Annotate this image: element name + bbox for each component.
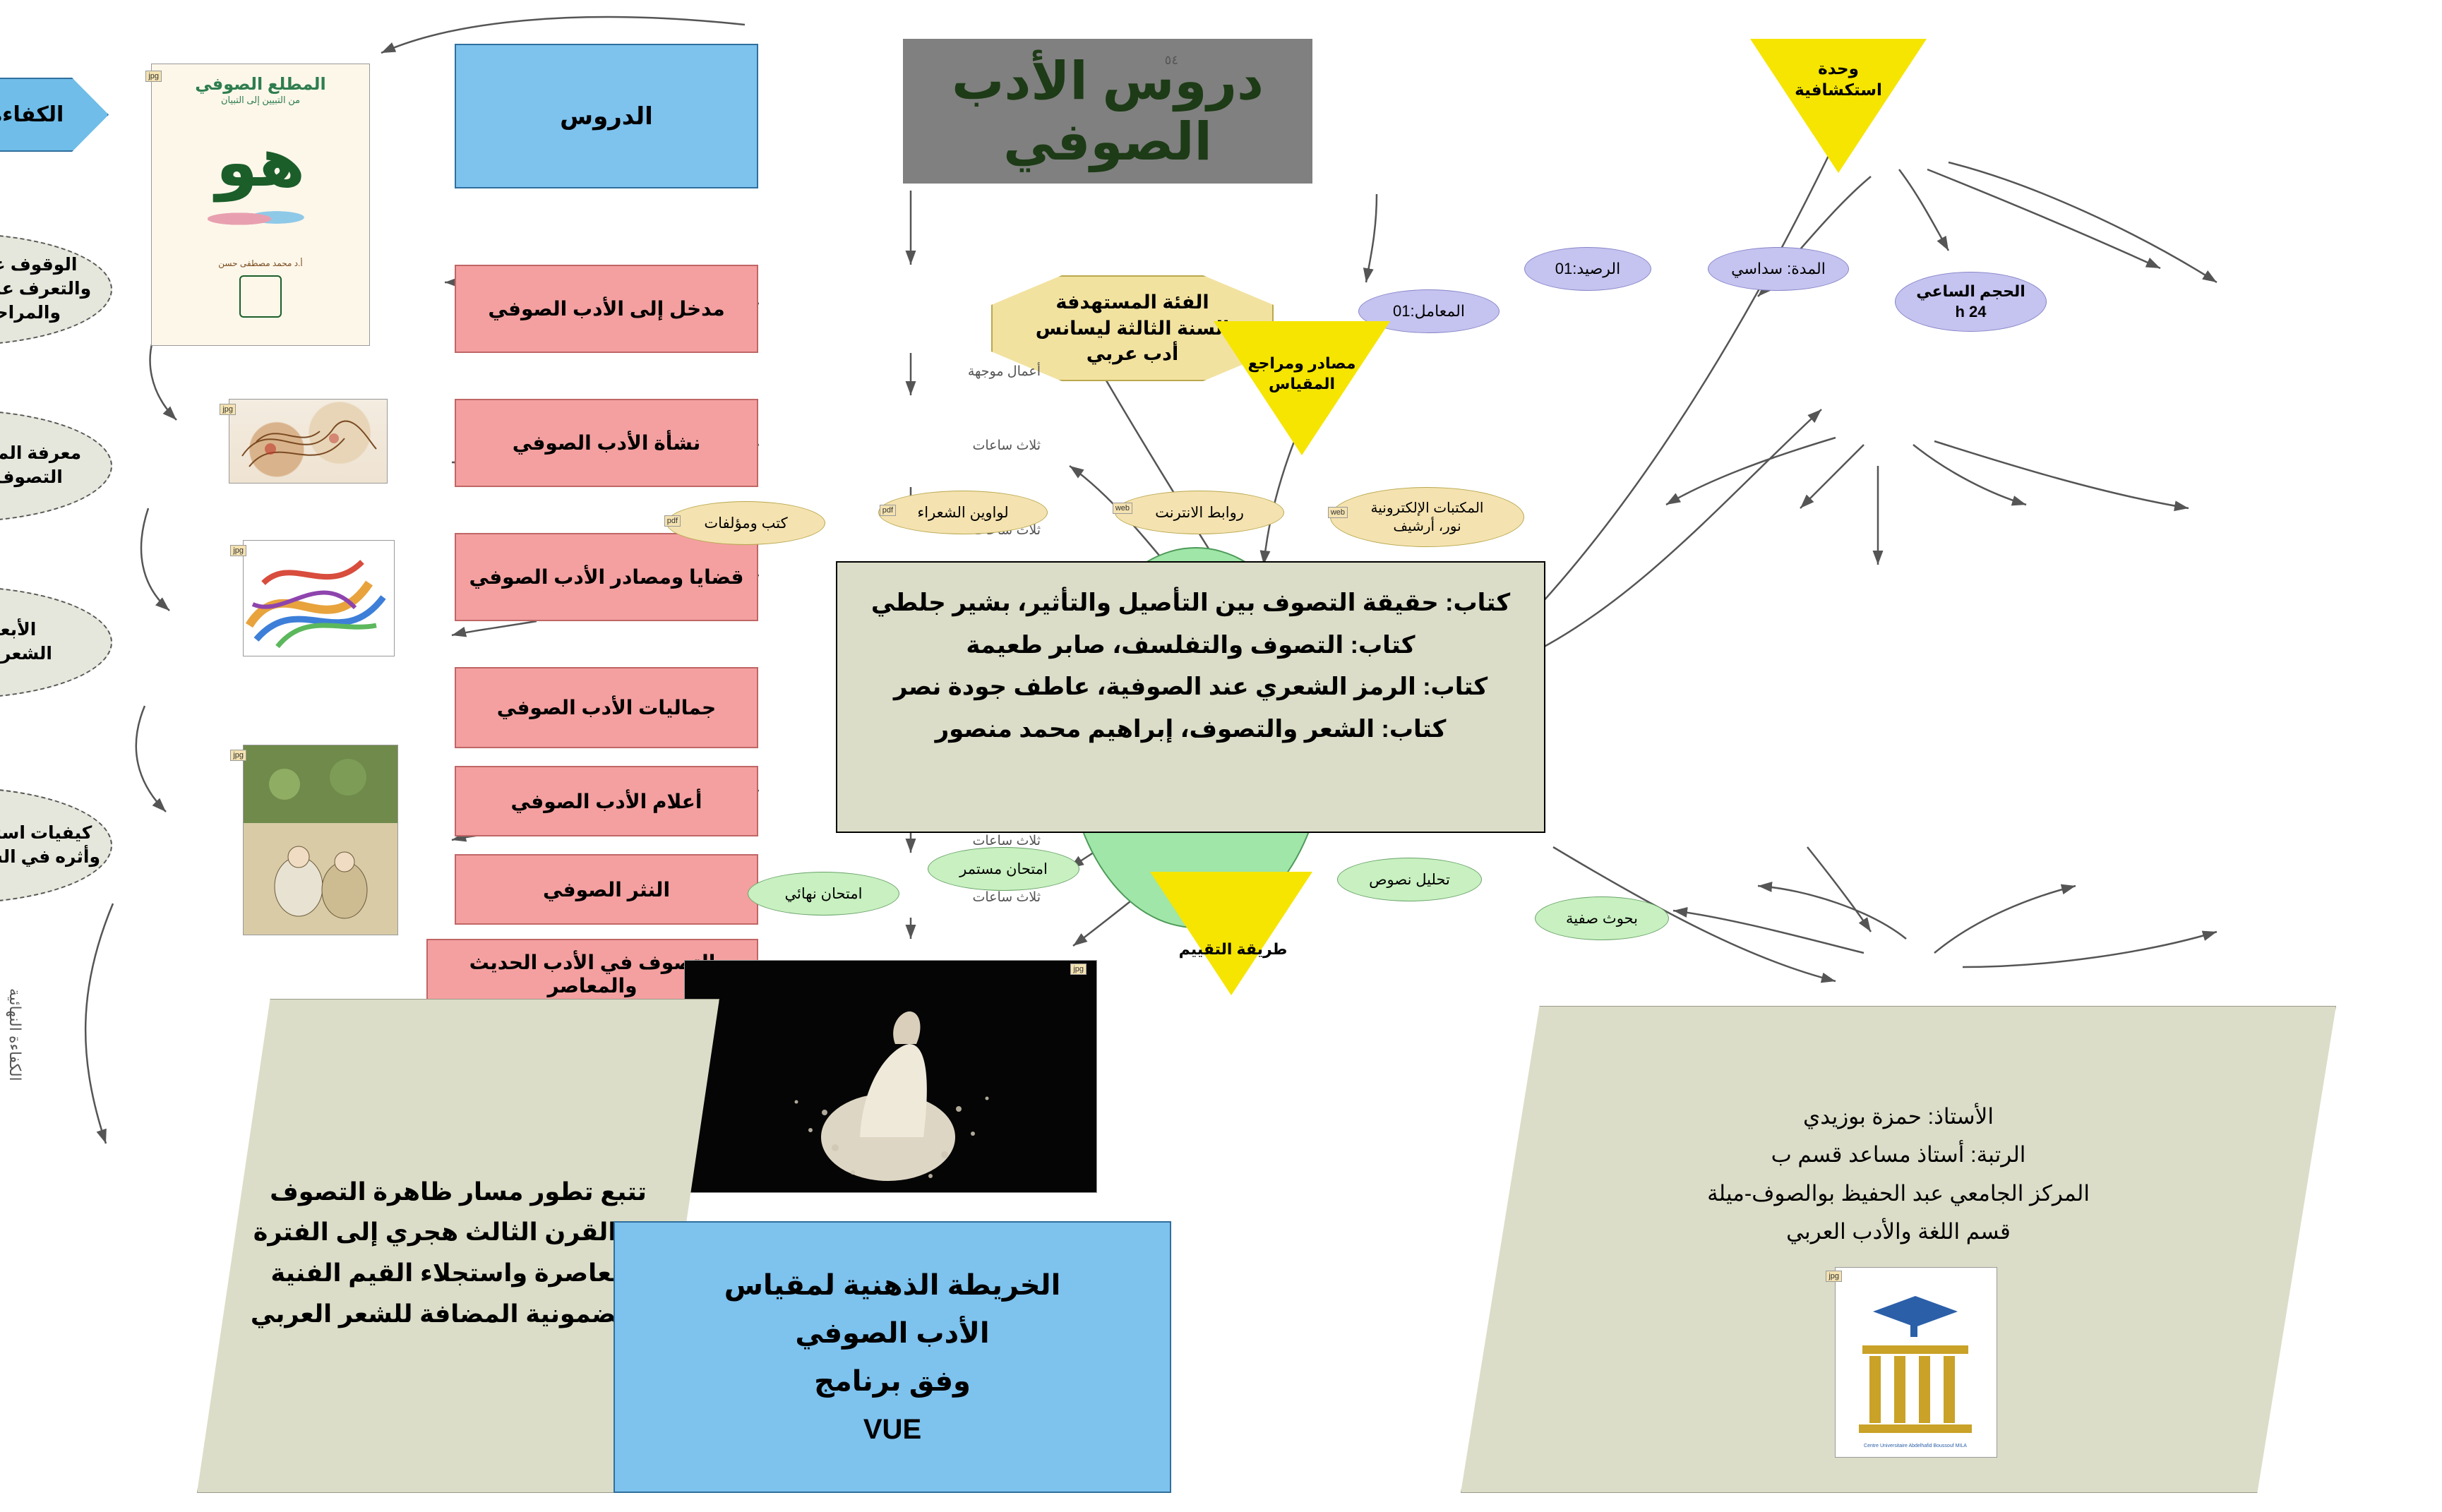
teacher-line-1: الأستاذ: حمزة بوزيدي bbox=[1552, 1098, 2244, 1136]
source-type-text: كتب ومؤلفات bbox=[704, 515, 787, 532]
competence-text: معرفة المؤثرات الرئيسية في التصوف، والقض… bbox=[0, 442, 81, 490]
source-type-4: المكتبات الإلكترونية نور، أرشيف bbox=[1330, 487, 1524, 547]
evaluation-item-text: امتحان مستمر bbox=[959, 860, 1048, 878]
lesson-label: قضايا ومصادر الأدب الصوفي bbox=[469, 565, 744, 589]
lesson-box-3: قضايا ومصادر الأدب الصوفي bbox=[455, 533, 758, 621]
lesson-label: مدخل إلى الأدب الصوفي bbox=[488, 297, 724, 320]
teacher-line-2: الرتبة: أستاذ مساعد قسم ب bbox=[1552, 1136, 2244, 1174]
book-cover-author: أ.د محمد مصطفى حسن bbox=[152, 258, 369, 268]
evaluation-item-3: امتحان نهائي bbox=[748, 872, 899, 916]
unit-credit: الرصيد:01 bbox=[1524, 247, 1651, 291]
sources-triangle-label: مصادر ومراجع المقياس bbox=[1221, 346, 1383, 402]
books-box: كتاب: حقيقة التصوف بين التأصيل والتأثير،… bbox=[836, 561, 1545, 833]
hour-label-1: ثلاث ساعات bbox=[972, 438, 1041, 454]
hour-label-7: ثلاث ساعات bbox=[972, 889, 1041, 906]
svg-text:Centre Universitaire Abdelhafi: Centre Universitaire Abdelhafid Boussouf… bbox=[1864, 1444, 1967, 1448]
map-title-text: دروس الأدب الصوفي bbox=[903, 51, 1312, 172]
source-tag-4: web bbox=[1328, 507, 1348, 518]
target-group-text: الفئة المستهدفة السنة الثالثة ليسانس أدب… bbox=[1036, 289, 1229, 366]
source-type-3: روابط الانترنت bbox=[1115, 491, 1284, 534]
source-tag-2: pdf bbox=[880, 505, 896, 516]
unit-duration: المدة: سداسي bbox=[1708, 247, 1849, 291]
competence-text: الأبعاد الرمزية للغة الشعرية عند المتصوف… bbox=[0, 618, 52, 666]
evaluation-item-text: تحليل نصوص bbox=[1369, 871, 1450, 889]
art1-image-tag: jpg bbox=[220, 404, 236, 415]
map-title: دروس الأدب الصوفي bbox=[903, 39, 1312, 184]
hour-label-0: أعمال موجهة bbox=[968, 364, 1041, 380]
final-competence-label: الكفاءة النهائية bbox=[6, 988, 24, 1081]
lesson-label: النثر الصوفي bbox=[543, 878, 670, 901]
source-type-2: لواوين الشعراء bbox=[878, 491, 1048, 534]
lesson-box-2: نشأة الأدب الصوفي bbox=[455, 399, 758, 487]
source-tag-1: pdf bbox=[664, 515, 681, 527]
source-type-1: كتب ومؤلفات bbox=[666, 501, 825, 545]
evaluation-triangle-text: طريقة التقييم bbox=[1179, 940, 1288, 959]
evaluation-item-text: بحوث صفية bbox=[1566, 910, 1638, 928]
final-competence-text: تتبع تطور مسار ظاهرة التصوف منذ القرن ال… bbox=[251, 1172, 666, 1335]
dervish-image-tag: jpg bbox=[1070, 964, 1087, 975]
unit-hours-text: الحجم الساعي 24 h bbox=[1916, 282, 2025, 322]
evaluation-item-4: بحوث صفية bbox=[1535, 896, 1669, 940]
unit-hours: الحجم الساعي 24 h bbox=[1895, 272, 2047, 332]
lesson-label: أعلام الأدب الصوفي bbox=[511, 790, 702, 813]
lesson-box-1: مدخل إلى الأدب الصوفي bbox=[455, 265, 758, 353]
source-type-text: لواوين الشعراء bbox=[917, 504, 1008, 522]
teacher-text-wrap: الأستاذ: حمزة بوزيدي الرتبة: أستاذ مساعد… bbox=[1552, 1098, 2244, 1253]
book-item-4: كتاب: الشعر والتصوف، إبراهيم محمد منصور bbox=[858, 709, 1523, 751]
university-logo-image: Centre Universitaire Abdelhafid Boussouf… bbox=[1835, 1267, 1997, 1458]
lesson-label: جماليات الأدب الصوفي bbox=[497, 696, 717, 719]
lesson-label: نشأة الأدب الصوفي bbox=[513, 431, 700, 455]
lesson-box-6: النثر الصوفي bbox=[455, 854, 758, 925]
unit-triangle-text: وحدة استكشافية bbox=[1795, 59, 1882, 101]
art2-image-tag: jpg bbox=[230, 545, 246, 556]
target-competence-text: الكفاءة المستهدفة bbox=[0, 102, 64, 127]
competence-1: الوقوف على دلالات التصوف والتعرف على الإ… bbox=[0, 233, 112, 346]
competence-4: كيفيات استدعاء التراث الصوفي وأثره في ال… bbox=[0, 787, 112, 904]
teacher-panel: الأستاذ: حمزة بوزيدي الرتبة: أستاذ مساعد… bbox=[1461, 1006, 2336, 1493]
final-competence-text-wrap: تتبع تطور مسار ظاهرة التصوف منذ القرن ال… bbox=[246, 1168, 670, 1338]
unit-coefficient-text: المعامل:01 bbox=[1393, 302, 1465, 320]
book-cover-image: المطلع الصوفي من التبيين إلى التبيان هو … bbox=[151, 64, 370, 346]
unit-triangle-label: وحدة استكشافية bbox=[1757, 55, 1920, 104]
miniature-image-tag: jpg bbox=[230, 750, 246, 761]
competence-2: معرفة المؤثرات الرئيسية في التصوف، والقض… bbox=[0, 409, 112, 522]
competence-text: كيفيات استدعاء التراث الصوفي وأثره في ال… bbox=[0, 822, 100, 870]
book-image-tag: jpg bbox=[145, 71, 162, 82]
mindmap-note-box: الخريطة الذهنية لمقياس الأدب الصوفي وفق … bbox=[614, 1221, 1171, 1493]
target-competence: الكفاءة المستهدفة bbox=[0, 78, 109, 152]
book-item-3: كتاب: الرمز الشعري عند الصوفية، عاطف جود… bbox=[858, 666, 1523, 709]
lesson-box-4: جماليات الأدب الصوفي bbox=[455, 667, 758, 748]
evaluation-item-1: تحليل نصوص bbox=[1337, 858, 1482, 901]
competence-3: الأبعاد الرمزية للغة الشعرية عند المتصوف… bbox=[0, 586, 112, 699]
source-type-text: روابط الانترنت bbox=[1155, 504, 1244, 522]
logo-image-tag: jpg bbox=[1826, 1271, 1842, 1282]
lessons-header-text: الدروس bbox=[560, 102, 653, 131]
book-item-1: كتاب: حقيقة التصوف بين التأصيل والتأثير،… bbox=[858, 582, 1523, 625]
lessons-header: الدروس bbox=[455, 44, 758, 188]
art-image-2 bbox=[243, 540, 395, 656]
dervish-image bbox=[684, 960, 1097, 1193]
competence-text: الوقوف على دلالات التصوف والتعرف على الإ… bbox=[0, 253, 91, 325]
source-type-text: المكتبات الإلكترونية نور، أرشيف bbox=[1371, 499, 1484, 536]
book-cover-bigword: هو bbox=[152, 126, 369, 200]
top-left-marker: ٥٤ bbox=[1165, 53, 1178, 68]
unit-duration-text: المدة: سداسي bbox=[1731, 260, 1826, 278]
teacher-line-3: المركز الجامعي عبد الحفيظ بوالصوف-ميلة bbox=[1552, 1175, 2244, 1213]
mindmap-note-text: الخريطة الذهنية لمقياس الأدب الصوفي وفق … bbox=[724, 1261, 1061, 1453]
sources-triangle-text: مصادر ومراجع المقياس bbox=[1247, 354, 1355, 394]
miniature-image bbox=[243, 745, 398, 935]
unit-credit-text: الرصيد:01 bbox=[1555, 260, 1620, 278]
book-item-2: كتاب: التصوف والتفلسف، صابر طعيمة bbox=[858, 625, 1523, 667]
lesson-box-5: أعلام الأدب الصوفي bbox=[455, 766, 758, 836]
teacher-line-4: قسم اللغة والأدب العربي bbox=[1552, 1213, 2244, 1251]
source-tag-3: web bbox=[1113, 503, 1132, 514]
evaluation-triangle-label: طريقة التقييم bbox=[1157, 932, 1309, 967]
art-image-1 bbox=[229, 399, 388, 484]
evaluation-item-text: امتحان نهائي bbox=[785, 885, 863, 903]
evaluation-item-2: امتحان مستمر bbox=[928, 847, 1079, 891]
book-cover-title: المطلع الصوفي bbox=[152, 74, 369, 95]
book-cover-subtitle: من التبيين إلى التبيان bbox=[152, 95, 369, 106]
